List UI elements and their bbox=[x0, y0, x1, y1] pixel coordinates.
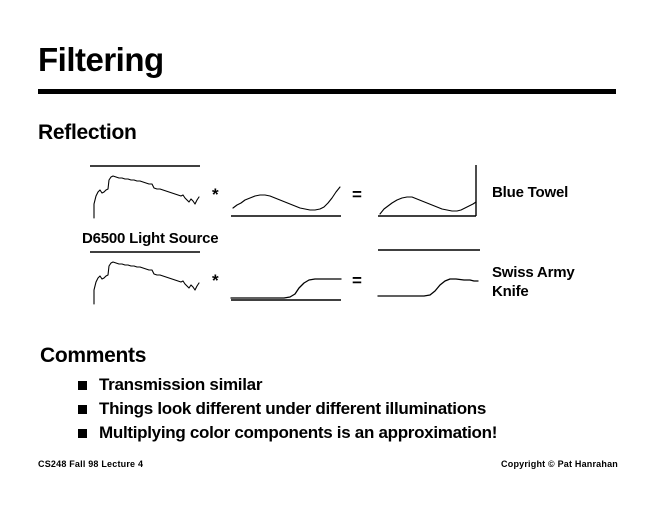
operator-equals-row2: = bbox=[352, 272, 362, 289]
footer-course-info: CS248 Fall 98 Lecture 4 bbox=[38, 459, 143, 469]
plot-blue-towel-reflectance bbox=[229, 178, 345, 220]
plot-blue-towel-radiance bbox=[376, 164, 488, 220]
section-heading-reflection: Reflection bbox=[38, 121, 137, 145]
list-item: Things look different under different il… bbox=[78, 398, 638, 422]
operator-multiply-row1: * bbox=[212, 186, 219, 203]
slide-title: Filtering bbox=[38, 41, 164, 79]
figure-label-swiss-army-knife: Swiss Army Knife bbox=[492, 263, 575, 301]
list-item: Multiplying color components is an appro… bbox=[78, 422, 638, 446]
caption-d6500-light-source: D6500 Light Source bbox=[82, 230, 218, 247]
operator-multiply-row2: * bbox=[212, 272, 219, 289]
square-bullet-icon bbox=[78, 429, 87, 438]
operator-equals-row1: = bbox=[352, 186, 362, 203]
title-divider bbox=[38, 89, 616, 94]
plot-swiss-army-knife-radiance bbox=[376, 246, 488, 306]
slide: Filtering Reflection * = Blue To bbox=[0, 0, 660, 510]
bullet-text: Transmission similar bbox=[99, 374, 262, 396]
bullet-text: Multiplying color components is an appro… bbox=[99, 422, 497, 444]
plot-d6500-illuminant-row2 bbox=[88, 248, 204, 306]
plot-d6500-illuminant-row1 bbox=[88, 162, 204, 220]
reflection-figure: * = Blue Towel D6500 Light Source bbox=[0, 150, 660, 330]
bullet-text: Things look different under different il… bbox=[99, 398, 486, 420]
plot-swiss-army-knife-reflectance bbox=[229, 264, 345, 306]
square-bullet-icon bbox=[78, 381, 87, 390]
footer-copyright: Copyright © Pat Hanrahan bbox=[501, 459, 618, 469]
comments-bullet-list: Transmission similar Things look differe… bbox=[78, 374, 638, 446]
figure-label-blue-towel: Blue Towel bbox=[492, 183, 568, 202]
section-heading-comments: Comments bbox=[40, 344, 146, 368]
square-bullet-icon bbox=[78, 405, 87, 414]
list-item: Transmission similar bbox=[78, 374, 638, 398]
